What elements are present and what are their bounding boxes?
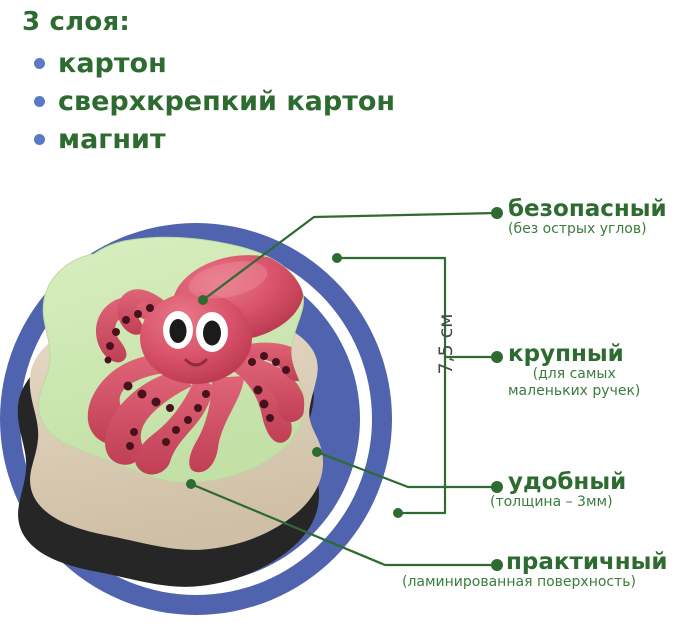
callout-big: крупный (для самых маленьких ручек) bbox=[508, 343, 640, 399]
leader-line-safe bbox=[203, 213, 497, 300]
callout-title: практичный bbox=[506, 551, 668, 574]
infographic-root: 3 слоя: картон сверхкрепкий картон магни… bbox=[0, 0, 680, 630]
callout-leader-lines bbox=[0, 0, 680, 630]
leader-dots bbox=[186, 207, 503, 571]
leader-line-comfy bbox=[317, 452, 497, 487]
callout-subtitle-line2: маленьких ручек) bbox=[508, 383, 640, 399]
callout-subtitle: (толщина – 3мм) bbox=[490, 494, 626, 510]
callout-subtitle: (ламинированная поверхность) bbox=[402, 574, 668, 590]
callout-subtitle: (без острых углов) bbox=[508, 221, 667, 237]
dimension-bracket bbox=[337, 258, 445, 513]
callout-comfy: удобный (толщина – 3мм) bbox=[508, 471, 626, 511]
callout-title: удобный bbox=[508, 471, 626, 494]
callout-subtitle-line1: (для самых bbox=[508, 366, 640, 382]
callout-title: безопасный bbox=[508, 198, 667, 221]
callout-title: крупный bbox=[508, 343, 640, 366]
dimension-label: 7,5 см bbox=[435, 299, 457, 389]
callout-safe: безопасный (без острых углов) bbox=[508, 198, 667, 238]
callout-practical: практичный (ламинированная поверхность) bbox=[506, 551, 668, 591]
leader-line-practical bbox=[191, 484, 497, 565]
